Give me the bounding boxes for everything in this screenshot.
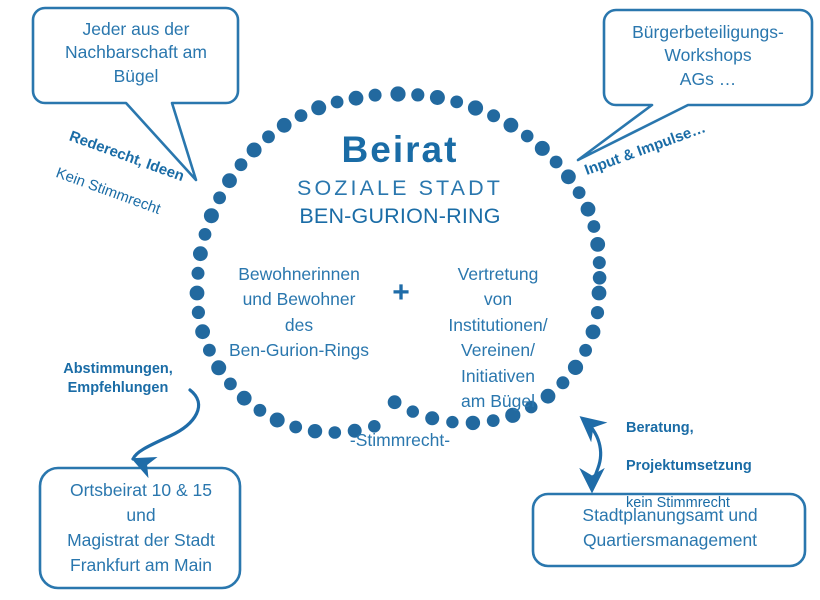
center-column-right: Vertretung von Institutionen/ Vereinen/ … [418,262,578,414]
bubble-top-right-text: Bürgerbeteiligungs- Workshops AGs … [606,21,810,91]
center-footer-stimmrecht: -Stimmrecht- [320,430,480,451]
diagram-canvas: Jeder aus der Nachbarschaft am Bügel Bür… [0,0,820,600]
connector-label-beratung-line3: kein Stimmrecht [626,494,811,513]
connector-label-beratung-line2: Projektumsetzung [626,457,811,476]
bubble-top-left-text: Jeder aus der Nachbarschaft am Bügel [36,18,236,88]
page-subtitle-1: SOZIALE STADT [258,175,542,201]
connector-label-beratung: Beratung, Projektumsetzung kein Stimmrec… [626,400,811,532]
plus-icon: + [382,275,420,312]
box-bottom-left-text: Ortsbeirat 10 & 15 und Magistrat der Sta… [42,478,240,577]
connector-label-beratung-line1: Beratung, [626,419,811,438]
page-title: Beirat [258,127,542,172]
arrow-abstimmungen [133,390,199,459]
connector-label-abstimmungen: Abstimmungen, Empfehlungen [38,360,198,398]
arrow-beratung [583,419,601,489]
page-subtitle-2: BEN-GURION-RING [258,203,542,229]
center-column-left: Bewohnerinnen und Bewohner des Ben-Gurio… [210,262,388,364]
